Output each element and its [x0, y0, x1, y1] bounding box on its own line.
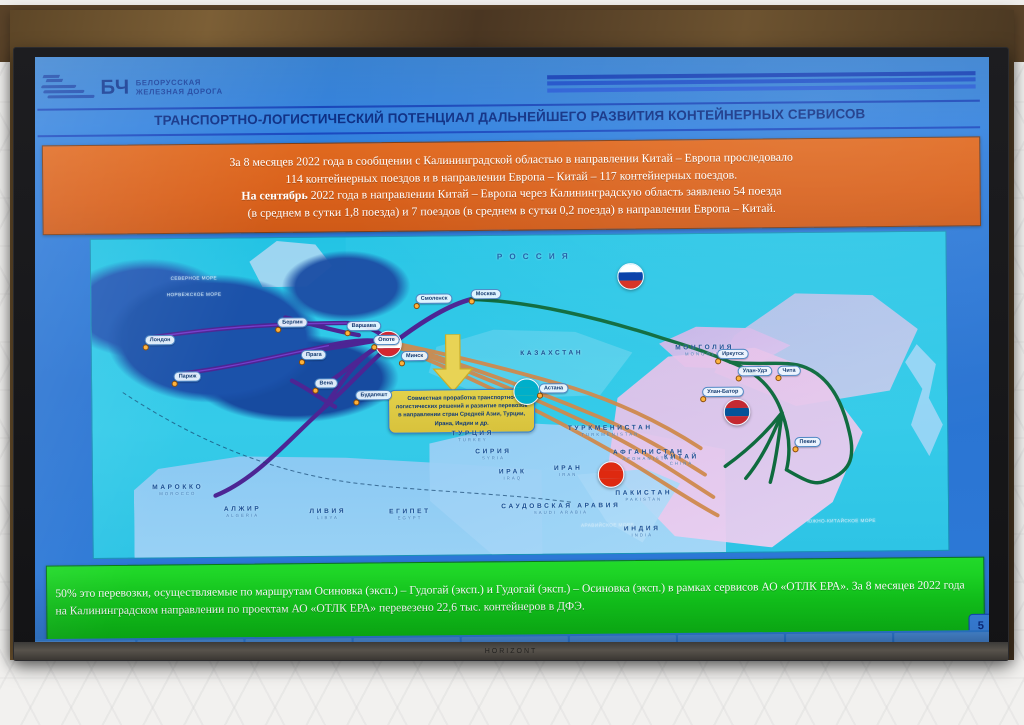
down-arrow-icon: [429, 334, 476, 394]
orange-line-1: За 8 месяцев 2022 года в сообщении с Кал…: [229, 150, 793, 169]
map-city-label: Берлин: [277, 317, 308, 327]
map-city-label: Лондон: [145, 335, 176, 345]
slide-logo: БЧ БЕЛОРУССКАЯ ЖЕЛЕЗНАЯ ДОРОГА: [41, 63, 976, 105]
monitor-screen[interactable]: БЧ БЕЛОРУССКАЯ ЖЕЛЕЗНАЯ ДОРОГА ТРАНСПОРТ…: [35, 57, 989, 643]
map-city-label: Москва: [471, 289, 501, 299]
orange-stat-banner: За 8 месяцев 2022 года в сообщении с Кал…: [42, 136, 981, 235]
map-city-label: Вена: [314, 378, 338, 388]
flag-badge-icon: [513, 378, 540, 405]
map-city-label: Чита: [777, 366, 800, 376]
flag-badge-icon: [724, 399, 751, 426]
monitor-chin: HORIZONT: [14, 642, 1008, 660]
orange-line-2: 114 контейнерных поездов и в направлении…: [285, 168, 737, 186]
map-city-label: Улан-Батор: [702, 387, 743, 398]
monitor-brand-label: HORIZONT: [485, 648, 538, 655]
map-city-label: Прага: [301, 350, 327, 360]
logo-decor-bars: [547, 71, 976, 92]
map-city-label: Пекин: [794, 437, 821, 447]
map-city-label: Опоте: [373, 335, 400, 345]
divider-under-title: [38, 126, 980, 137]
bch-fullname-line2: ЖЕЛЕЗНАЯ ДОРОГА: [136, 87, 223, 97]
orange-line-3-bold: На сентябрь: [241, 189, 307, 203]
map-city-label: Улан-Удэ: [738, 366, 773, 377]
bch-logo-icon: [41, 73, 96, 102]
eurasia-route-map: Совместная проработка транспортно-логист…: [90, 231, 950, 559]
map-city-label: Будапешт: [355, 390, 392, 401]
orange-line-3: 2022 года в направлении Китай – Европа ч…: [308, 184, 782, 202]
flag-badge-icon: [598, 461, 625, 488]
bch-abbr: БЧ: [100, 77, 129, 98]
green-stat-banner: 50% это перевозки, осуществляемые по мар…: [46, 557, 985, 641]
map-city-label: Астана: [539, 383, 568, 393]
display-monitor: БЧ БЕЛОРУССКАЯ ЖЕЛЕЗНАЯ ДОРОГА ТРАНСПОРТ…: [13, 47, 1009, 661]
orange-line-4: (в среднем в сутки 1,8 поезда) и 7 поезд…: [248, 201, 776, 219]
map-city-label: Смоленск: [416, 293, 453, 304]
green-banner-text: 50% это перевозки, осуществляемые по мар…: [55, 577, 975, 621]
map-city-label: Иркутск: [717, 349, 749, 360]
bch-fullname: БЕЛОРУССКАЯ ЖЕЛЕЗНАЯ ДОРОГА: [136, 77, 223, 96]
map-city-label: Минск: [401, 351, 428, 361]
map-city-label: Париж: [174, 371, 202, 381]
flag-badge-icon: [617, 263, 644, 290]
presentation-slide: БЧ БЕЛОРУССКАЯ ЖЕЛЕЗНАЯ ДОРОГА ТРАНСПОРТ…: [35, 57, 989, 643]
map-city-label: Варшава: [346, 321, 381, 332]
